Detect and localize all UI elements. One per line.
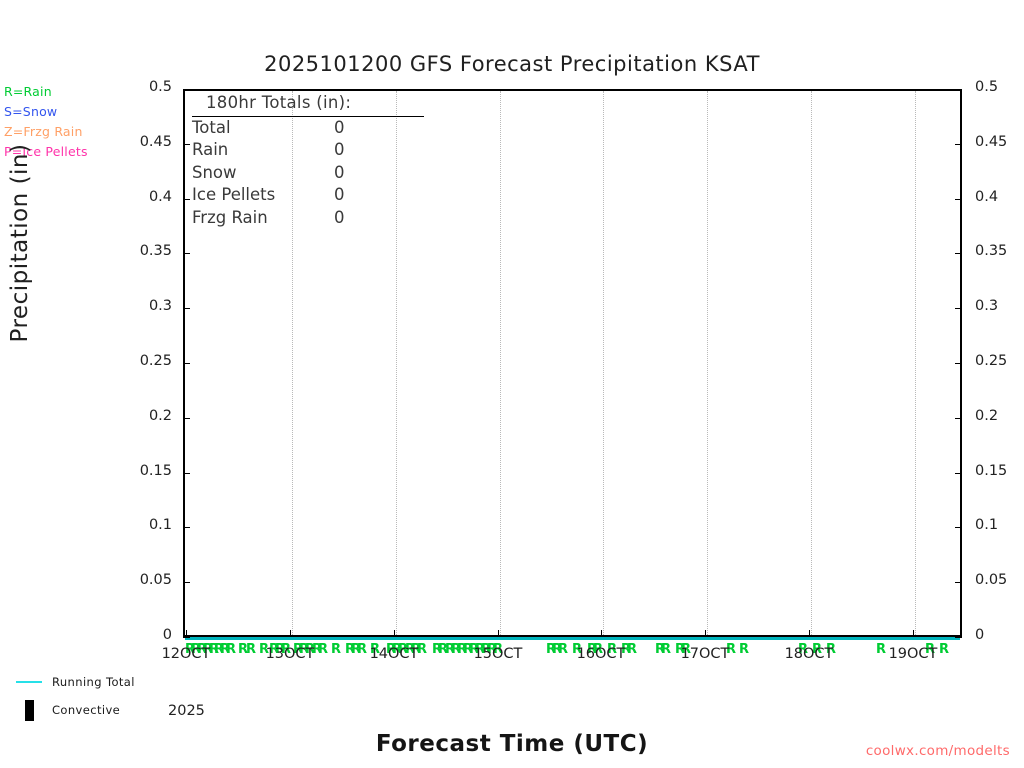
totals-row-value: 0 (334, 117, 394, 140)
y-axis-tick-right (955, 144, 962, 145)
y-axis-tick-left (183, 582, 190, 583)
precip-type-marker: R (558, 641, 568, 659)
y-axis-tick-right (955, 637, 962, 638)
totals-row: Ice Pellets0 (192, 184, 424, 207)
legend-convective-label: Convective (52, 703, 120, 717)
x-axis-tick-label: 12OCT (162, 646, 211, 662)
legend-running-total-label: Running Total (52, 675, 135, 689)
totals-row: Total0 (192, 117, 424, 140)
precip-type-marker: R (546, 641, 556, 659)
x-axis-tick (290, 630, 291, 637)
x-axis-tick (705, 630, 706, 637)
precip-type-marker: R (345, 641, 355, 659)
y-axis-tick-right (955, 308, 962, 309)
y-axis-tick-label-right: 0.2 (975, 408, 998, 424)
y-axis-tick-label-left: 0.45 (110, 134, 172, 150)
y-axis-tick-right (955, 363, 962, 364)
y-axis-tick-label-left: 0.4 (110, 189, 172, 205)
gridline-vertical (811, 91, 812, 635)
y-axis-tick-right (955, 253, 962, 254)
series-legend: Running Total Convective (10, 668, 135, 724)
totals-row-value: 0 (334, 207, 394, 230)
site-watermark: coolwx.com/modelts (866, 743, 1010, 759)
totals-row-label: Ice Pellets (192, 184, 334, 207)
precip-type-marker: R (220, 641, 230, 659)
y-axis-tick-label-right: 0 (975, 627, 984, 643)
x-axis-tick-label: 17OCT (681, 646, 730, 662)
precip-type-marker: R (246, 641, 256, 659)
y-axis-tick-label-right: 0.45 (975, 134, 1007, 150)
x-axis-tick-label: 16OCT (577, 646, 626, 662)
y-axis-tick-right (955, 199, 962, 200)
y-axis-title: Precipitation (in) (7, 73, 33, 413)
y-axis-tick-left (183, 89, 190, 90)
y-axis-tick-label-right: 0.15 (975, 463, 1007, 479)
y-axis-tick-right (955, 418, 962, 419)
y-axis-tick-label-left: 0 (110, 627, 172, 643)
totals-row-value: 0 (334, 162, 394, 185)
y-axis-tick-label-right: 0.05 (975, 572, 1007, 588)
precip-type-marker: R (214, 641, 224, 659)
y-axis-tick-left (183, 308, 190, 309)
x-axis-tick (498, 630, 499, 637)
totals-row-value: 0 (334, 184, 394, 207)
gridline-vertical (915, 91, 916, 635)
y-axis-tick-label-left: 0.3 (110, 298, 172, 314)
precip-type-marker: R (357, 641, 367, 659)
totals-row: Rain0 (192, 139, 424, 162)
page-title: 2025101200 GFS Forecast Precipitation KS… (0, 52, 1024, 76)
gridline-vertical (603, 91, 604, 635)
x-axis-tick-label: 14OCT (370, 646, 419, 662)
x-axis-tick (601, 630, 602, 637)
y-axis-tick-left (183, 527, 190, 528)
y-axis-tick-right (955, 582, 962, 583)
y-axis-tick-left (183, 473, 190, 474)
x-axis-tick (394, 630, 395, 637)
precip-type-marker: R (318, 641, 328, 659)
x-axis-tick-label: 19OCT (889, 646, 938, 662)
convective-swatch-icon (25, 700, 34, 721)
totals-row-label: Frzg Rain (192, 207, 334, 230)
y-axis-tick-left (183, 199, 190, 200)
precip-type-marker: R (655, 641, 665, 659)
precip-type-marker: R (876, 641, 886, 659)
totals-header: 180hr Totals (in): (192, 92, 424, 117)
precip-type-marker: R (432, 641, 442, 659)
y-axis-tick-left (183, 253, 190, 254)
totals-row-label: Total (192, 117, 334, 140)
precip-type-marker: R (627, 641, 637, 659)
gridline-vertical (707, 91, 708, 635)
y-axis-tick-right (955, 527, 962, 528)
legend-running-total: Running Total (10, 668, 135, 696)
totals-row-label: Rain (192, 139, 334, 162)
precip-type-marker: R (552, 641, 562, 659)
y-axis-tick-label-right: 0.4 (975, 189, 998, 205)
y-axis-tick-label-left: 0.5 (110, 79, 172, 95)
totals-summary-box: 180hr Totals (in): Total0Rain0Snow0Ice P… (192, 92, 437, 229)
precip-type-marker: R (351, 641, 361, 659)
totals-row-value: 0 (334, 139, 394, 162)
y-axis-tick-right (955, 89, 962, 90)
precip-type-marker: R (445, 641, 455, 659)
y-axis-tick-label-right: 0.1 (975, 517, 998, 533)
y-axis-tick-left (183, 637, 190, 638)
y-axis-tick-right (955, 473, 962, 474)
precip-type-marker: R (463, 641, 473, 659)
precip-type-marker: R (457, 641, 467, 659)
precip-type-marker: R (661, 641, 671, 659)
precip-type-marker: R (939, 641, 949, 659)
y-axis-tick-label-left: 0.35 (110, 243, 172, 259)
x-axis-tick-label: 13OCT (266, 646, 315, 662)
x-axis-tick (186, 630, 187, 637)
legend-convective: Convective (10, 696, 135, 724)
totals-row: Snow0 (192, 162, 424, 185)
y-axis-tick-label-right: 0.25 (975, 353, 1007, 369)
x-axis-tick (809, 630, 810, 637)
y-axis-tick-label-left: 0.2 (110, 408, 172, 424)
gridline-vertical (500, 91, 501, 635)
totals-row: Frzg Rain0 (192, 207, 424, 230)
y-axis-tick-label-right: 0.35 (975, 243, 1007, 259)
x-axis-year-label: 2025 (168, 703, 205, 719)
running-total-swatch-icon (16, 681, 42, 684)
totals-row-label: Snow (192, 162, 334, 185)
y-axis-tick-label-left: 0.25 (110, 353, 172, 369)
y-axis-tick-label-right: 0.3 (975, 298, 998, 314)
y-axis-tick-left (183, 363, 190, 364)
precip-type-marker: R (238, 641, 248, 659)
x-axis-tick-label: 18OCT (785, 646, 834, 662)
y-axis-tick-label-left: 0.05 (110, 572, 172, 588)
y-axis-tick-label-right: 0.5 (975, 79, 998, 95)
precip-type-marker: R (331, 641, 341, 659)
y-axis-tick-label-left: 0.15 (110, 463, 172, 479)
x-axis-tick (913, 630, 914, 637)
precip-type-marker: R (739, 641, 749, 659)
y-axis-tick-left (183, 144, 190, 145)
precip-type-marker: R (438, 641, 448, 659)
precip-type-marker: R (226, 641, 236, 659)
running-total-series (185, 637, 960, 640)
precip-type-marker: R (451, 641, 461, 659)
x-axis-tick-label: 15OCT (474, 646, 523, 662)
y-axis-tick-label-left: 0.1 (110, 517, 172, 533)
y-axis-tick-left (183, 418, 190, 419)
